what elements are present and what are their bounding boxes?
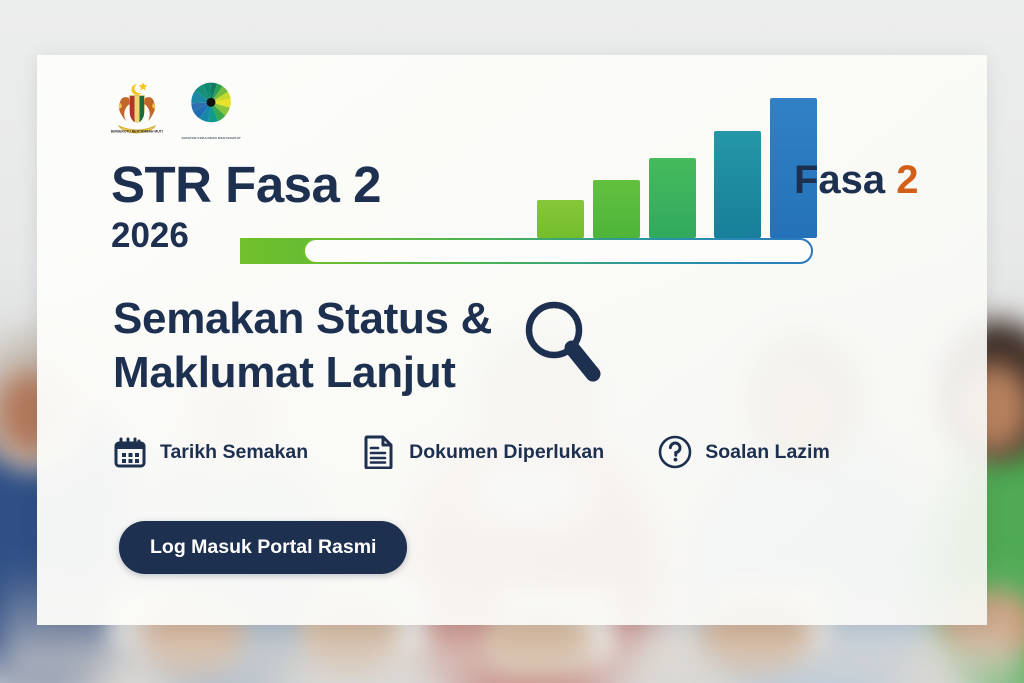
svg-text:BERSEKUTU BERTAMBAH MUTU: BERSEKUTU BERTAMBAH MUTU [111, 130, 163, 134]
chart-bar [593, 180, 640, 238]
headline-line-2: Maklumat Lanjut [113, 346, 492, 400]
jata-negara-coat-of-arms-icon: BERSEKUTU BERTAMBAH MUTU [111, 78, 163, 140]
chart-bar [537, 200, 584, 238]
phase-badge: Fasa 2 [794, 160, 919, 200]
chart-bar [649, 158, 696, 238]
progress-remaining-outline [303, 238, 813, 264]
calendar-icon [113, 435, 147, 469]
login-portal-button[interactable]: Log Masuk Portal Rasmi [119, 521, 407, 574]
feature-tarikh-semakan[interactable]: Tarikh Semakan [113, 435, 308, 469]
phase-badge-label: Fasa [794, 158, 885, 202]
page-year: 2026 [111, 218, 189, 253]
feature-label: Tarikh Semakan [160, 441, 308, 464]
feature-label: Soalan Lazim [705, 441, 830, 464]
hero-card: BERSEKUTU BERTAMBAH MUTU [37, 55, 987, 625]
logo-row: BERSEKUTU BERTAMBAH MUTU [111, 78, 239, 140]
phase-badge-number: 2 [896, 158, 918, 202]
feature-soalan-lazim[interactable]: Soalan Lazim [658, 435, 830, 469]
chart-bar [714, 131, 761, 238]
document-icon [362, 435, 396, 469]
headline: Semakan Status & Maklumat Lanjut [113, 292, 492, 399]
department-logo-caption: JABATAN KEBAJIKAN MASYARAKAT [180, 137, 242, 140]
question-circle-icon [658, 435, 692, 469]
feature-row: Tarikh Semakan Dokumen Diperlukan So [113, 435, 830, 469]
page-title: STR Fasa 2 [111, 159, 381, 210]
growth-bar-chart [492, 55, 812, 255]
feature-label: Dokumen Diperlukan [409, 441, 604, 464]
department-pinwheel-logo-icon: JABATAN KEBAJIKAN MASYARAKAT [183, 80, 239, 140]
magnifier-icon [521, 300, 601, 382]
headline-line-1: Semakan Status & [113, 292, 492, 346]
feature-dokumen-diperlukan[interactable]: Dokumen Diperlukan [362, 435, 604, 469]
